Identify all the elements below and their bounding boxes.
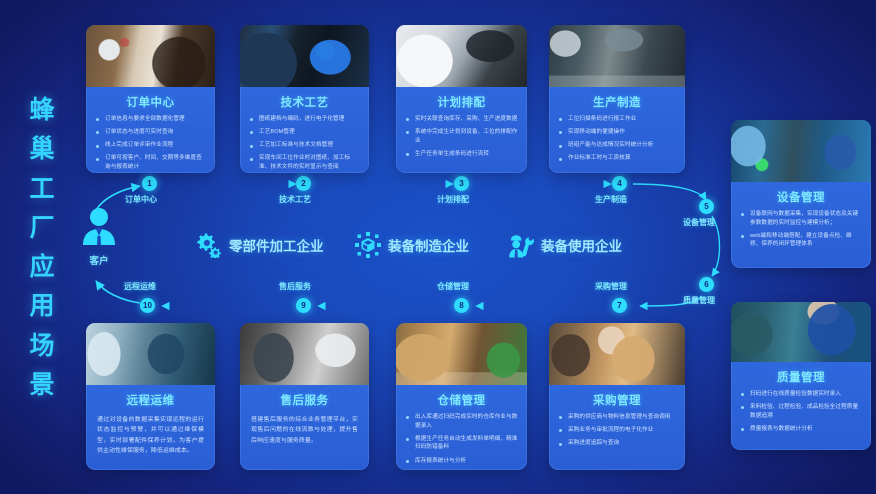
card-bullets-procurement: 采购的供应商与物料信息管理与查询调用 采购业务与审批流程的电子化作业 采购进度追… [549,413,685,460]
card-warehouse[interactable]: 仓储管理 出入库通过扫码完成实时的仓库作业与数据录入 根据生产任务自动生成发料单… [396,323,527,470]
flow-node-10[interactable]: 10 [140,298,155,313]
card-paragraph-after-sales: 搭建售后服务的综合业务管理平台，实现售后问题的在线流数与处理，提升售后响应速度与… [240,413,369,454]
card-title-remote-maintenance: 远程运维 [86,385,215,413]
card-equipment-management[interactable]: 设备管理 设备联网与数据采集，实现设备状态及关键参数数据的实时监控与建模分析； … [731,120,871,268]
package-network-icon [355,232,381,258]
title-char-5: 用 [29,294,54,319]
list-item: 实现车间工位作业时对图纸、加工标准、技术文件的实时显示与查阅 [249,154,360,171]
card-title-tech-process: 技术工艺 [240,87,369,115]
list-item: 质量报表与数据统计分析 [740,425,862,434]
role-equipment-manufacturer: 装备制造企业 [355,232,469,258]
card-quality-management[interactable]: 质量管理 扫码进行在线质量检验数据实时录入 来料检验、过程检验、成品检验全过程质… [731,302,871,450]
flow-node-7-label: 采购管理 [595,281,627,292]
worker-wrench-icon [508,232,534,258]
role-label-equipment-mfg: 装备制造企业 [388,235,469,255]
card-photo-remote-maintenance [86,323,215,385]
card-title-planning: 计划排配 [396,87,527,115]
card-photo-after-sales [240,323,369,385]
flow-node-5-label: 设备管理 [683,217,715,228]
card-paragraph-remote-maintenance: 通过对设备的数据采集实现远程的运行状态监控与预警，并可以通过维保模型，实时部署配… [86,413,215,464]
card-bullets-tech-process: 图纸建档与编码，进行电子化管理 工艺BOM管理 工艺加工标准与技术文档管理 实现… [240,115,369,173]
list-item: 线上完成订单评审作业流程 [95,141,206,150]
card-bullets-order-center: 订单信息与要求全部数据化管理 订单状态与进度可实时查询 线上完成订单评审作业流程… [86,115,215,173]
card-after-sales[interactable]: 售后服务 搭建售后服务的综合业务管理平台，实现售后问题的在线流数与处理，提升售后… [240,323,369,470]
person-icon [77,206,121,246]
list-item: web端和移动端搭配，建立设备点检、维修、保养的闭环管理体系 [740,232,862,249]
list-item: 班组产能与达成情况实时统计分析 [558,141,676,150]
list-item: 工艺加工标准与技术文档管理 [249,141,360,150]
list-item: 设备联网与数据采集，实现设备状态及关键参数数据的实时监控与建模分析； [740,210,862,227]
list-item: 工艺BOM管理 [249,128,360,137]
title-char-2: 工 [29,177,54,202]
card-title-procurement: 采购管理 [549,385,685,413]
flow-node-4[interactable]: 4 [612,176,627,191]
list-item: 订单可按客户、时间、交期等多维度查询与报表统计 [95,154,206,171]
flow-node-1[interactable]: 1 [142,176,157,191]
flow-node-2-label: 技术工艺 [279,194,311,205]
flow-node-4-label: 生产制造 [595,194,627,205]
card-bullets-quality: 扫码进行在线质量检验数据实时录入 来料检验、过程检验、成品检验全过程质量数据追溯… [731,390,871,446]
title-char-0: 蜂 [29,98,54,123]
card-procurement[interactable]: 采购管理 采购的供应商与物料信息管理与查询调用 采购业务与审批流程的电子化作业 … [549,323,685,470]
role-parts-manufacturer: 零部件加工企业 [196,232,324,258]
title-char-7: 景 [29,373,54,398]
list-item: 扫码进行在线质量检验数据实时录入 [740,390,862,399]
list-item: 实时关联查询库存、采购、生产进度数据 [405,115,518,124]
flow-node-3-label: 计划排配 [437,194,469,205]
flow-node-8[interactable]: 8 [454,298,469,313]
card-order-center[interactable]: 订单中心 订单信息与要求全部数据化管理 订单状态与进度可实时查询 线上完成订单评… [86,25,215,173]
flow-node-5[interactable]: 5 [699,199,714,214]
card-production[interactable]: 生产制造 工位扫描条码进行报工作业 实现移动端的便捷操作 班组产能与达成情况实时… [549,25,685,173]
card-bullets-production: 工位扫描条码进行报工作业 实现移动端的便捷操作 班组产能与达成情况实时统计分析 … [549,115,685,173]
card-photo-production [549,25,685,87]
flow-node-2[interactable]: 2 [296,176,311,191]
flow-node-9[interactable]: 9 [296,298,311,313]
flow-node-9-label: 售后服务 [279,281,311,292]
card-photo-procurement [549,323,685,385]
flow-node-1-label: 订单中心 [125,194,157,205]
role-label-parts: 零部件加工企业 [229,235,324,255]
card-title-order-center: 订单中心 [86,87,215,115]
list-item: 来料检验、过程检验、成品检验全过程质量数据追溯 [740,403,862,420]
card-photo-tech-process [240,25,369,87]
flow-node-8-label: 仓储管理 [437,281,469,292]
list-item: 生产任务单生成条码进行流转 [405,150,518,159]
card-title-after-sales: 售后服务 [240,385,369,413]
card-title-warehouse: 仓储管理 [396,385,527,413]
list-item: 采购进度追踪与查询 [558,439,676,448]
card-planning[interactable]: 计划排配 实时关联查询库存、采购、生产进度数据 系统中完成生计划到设备、工位的排… [396,25,527,173]
list-item: 订单状态与进度可实时查询 [95,128,206,137]
list-item: 实现移动端的便捷操作 [558,128,676,137]
title-char-1: 巢 [29,137,54,162]
title-char-4: 应 [29,255,54,280]
flow-node-3[interactable]: 3 [454,176,469,191]
card-photo-quality [731,302,871,362]
card-title-production: 生产制造 [549,87,685,115]
list-item: 根据生产任务自动生成发料单明细，精准扫码防错备料 [405,435,518,452]
list-item: 作业标准工时与工资核算 [558,154,676,163]
card-title-quality: 质量管理 [731,362,871,390]
card-bullets-equipment: 设备联网与数据采集，实现设备状态及关键参数数据的实时监控与建模分析； web端和… [731,210,871,262]
list-item: 库存报表统计与分析 [405,457,518,466]
list-item: 图纸建档与编码，进行电子化管理 [249,115,360,124]
card-photo-warehouse [396,323,527,385]
card-bullets-warehouse: 出入库通过扫码完成实时的仓库作业与数据录入 根据生产任务自动生成发料单明细，精准… [396,413,527,470]
flow-node-6-label: 质量管理 [683,295,715,306]
card-title-equipment: 设备管理 [731,182,871,210]
card-photo-equipment [731,120,871,182]
list-item: 系统中完成生计划到设备、工位的排配作业 [405,128,518,145]
title-char-3: 厂 [29,216,54,241]
flow-node-10-label: 远程运维 [124,281,156,292]
card-photo-order-center [86,25,215,87]
card-remote-maintenance[interactable]: 远程运维 通过对设备的数据采集实现远程的运行状态监控与预警，并可以通过维保模型，… [86,323,215,470]
flow-node-6[interactable]: 6 [699,277,714,292]
list-item: 采购的供应商与物料信息管理与查询调用 [558,413,676,422]
card-tech-process[interactable]: 技术工艺 图纸建档与编码，进行电子化管理 工艺BOM管理 工艺加工标准与技术文档… [240,25,369,173]
page-title: 蜂 巢 工 厂 应 用 场 景 [14,98,70,398]
gears-icon [196,232,222,258]
customer-node: 客户 [68,206,130,267]
customer-label: 客户 [68,253,130,267]
list-item: 采购业务与审批流程的电子化作业 [558,426,676,435]
scene-root: 蜂 巢 工 厂 应 用 场 景 [0,0,876,494]
flow-node-7[interactable]: 7 [612,298,627,313]
list-item: 出入库通过扫码完成实时的仓库作业与数据录入 [405,413,518,430]
card-photo-planning [396,25,527,87]
role-label-equipment-user: 装备使用企业 [541,235,622,255]
role-equipment-user: 装备使用企业 [508,232,622,258]
list-item: 工位扫描条码进行报工作业 [558,115,676,124]
list-item: 订单信息与要求全部数据化管理 [95,115,206,124]
card-bullets-planning: 实时关联查询库存、采购、生产进度数据 系统中完成生计划到设备、工位的排配作业 生… [396,115,527,171]
title-char-6: 场 [29,334,54,359]
